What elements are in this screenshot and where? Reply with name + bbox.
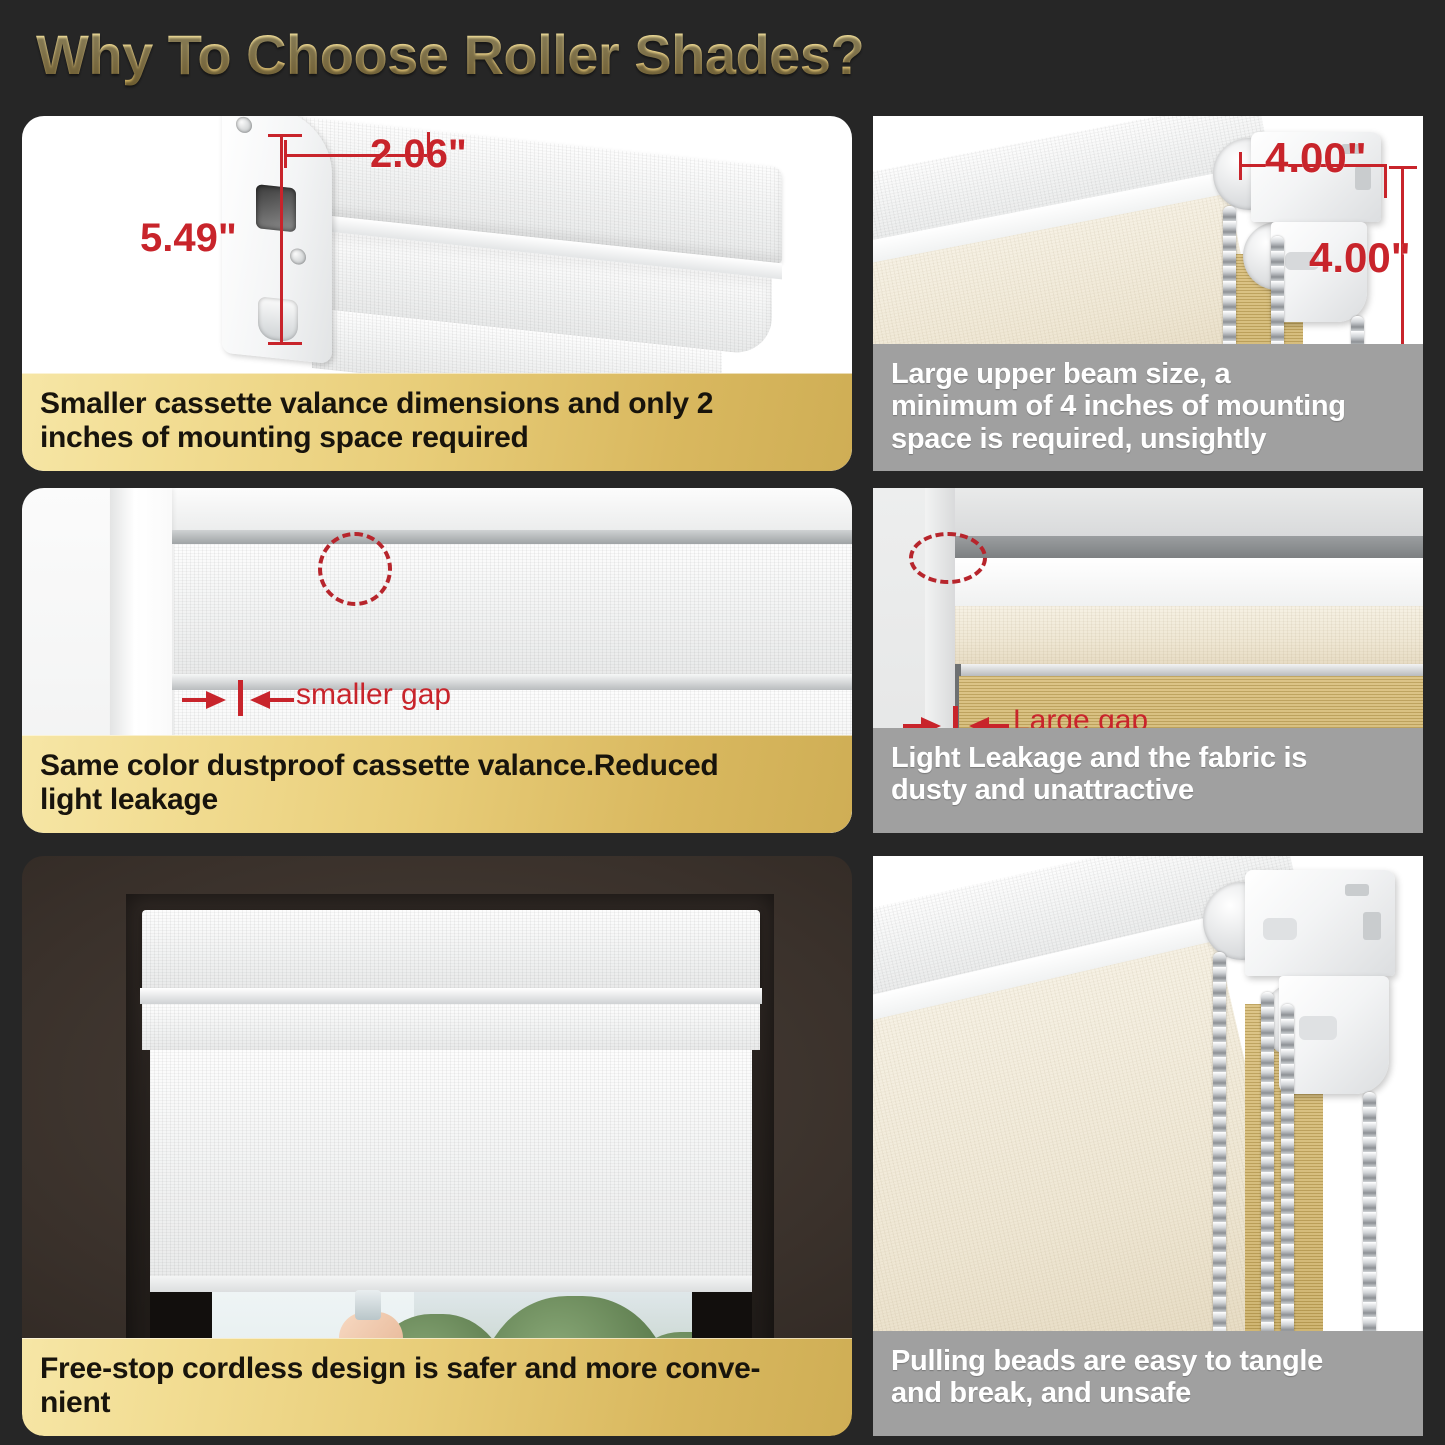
bracket-cutout bbox=[1263, 918, 1297, 940]
panel-middle-right[interactable]: Large gap Light Leakage and the fabric i… bbox=[873, 488, 1423, 833]
panel-bottom-right-caption: Pulling beads are easy to tangle and bre… bbox=[873, 1331, 1423, 1436]
bracket-cutout bbox=[1299, 1016, 1337, 1040]
cassette-valance-head bbox=[142, 910, 760, 988]
page-title: Why To Choose Roller Shades? bbox=[36, 22, 864, 87]
shade-middle-rail bbox=[172, 674, 852, 690]
width-dimension-label: 2.06" bbox=[370, 132, 467, 177]
panel-top-right-caption: Large upper beam size, a minimum of 4 in… bbox=[873, 344, 1423, 471]
gap-arrow-left-icon bbox=[250, 691, 270, 709]
panel-top-left[interactable]: 2.06" 5.49" Smaller cassette valance dim… bbox=[22, 116, 852, 471]
bracket-screw bbox=[290, 248, 306, 266]
caption-line: minimum of 4 inches of mounting bbox=[891, 390, 1405, 422]
panel-bottom-right[interactable]: Pulling beads are easy to tangle and bre… bbox=[873, 856, 1423, 1436]
panel-top-right[interactable]: 4.00" 4.00" Large upper beam size, a min… bbox=[873, 116, 1423, 471]
bead-chain bbox=[1261, 992, 1274, 1352]
upper-beam bbox=[955, 536, 1423, 558]
page-header: Why To Choose Roller Shades? bbox=[0, 0, 1445, 108]
cassette-valance-illustration bbox=[222, 116, 782, 397]
cassette-valance-rail bbox=[140, 988, 762, 1004]
panel-middle-right-caption: Light Leakage and the fabric is dusty an… bbox=[873, 728, 1423, 833]
shade-fabric bbox=[150, 1050, 752, 1284]
panel-bottom-left-caption: Free-stop cordless design is safer and m… bbox=[22, 1338, 852, 1436]
window-frame-top bbox=[110, 488, 852, 530]
shade-bottom-hem bbox=[150, 1276, 752, 1292]
highlight-circle-icon bbox=[909, 532, 987, 584]
panel-top-left-caption: Smaller cassette valance dimensions and … bbox=[22, 373, 852, 471]
panel-bottom-left-image: Free-stop cordless design is safer and m… bbox=[22, 856, 852, 1436]
cassette-valance-lower bbox=[142, 1004, 760, 1050]
bracket-notch bbox=[1363, 912, 1381, 940]
height-dimension-label: 5.49" bbox=[140, 216, 237, 261]
width-dim-tick-right bbox=[1384, 164, 1387, 198]
bracket-screw bbox=[236, 116, 252, 134]
bracket-knob bbox=[258, 296, 298, 342]
mounting-bracket-upper bbox=[1245, 870, 1395, 976]
gap-label: smaller gap bbox=[296, 678, 451, 712]
highlight-circle-icon bbox=[318, 532, 392, 606]
gap-arrow-stem bbox=[270, 698, 294, 702]
caption-line: light leakage bbox=[40, 783, 834, 817]
shade-cream-band bbox=[955, 606, 1423, 664]
caption-line: Same color dustproof cassette valance.Re… bbox=[40, 749, 834, 783]
panel-bottom-right-image: Pulling beads are easy to tangle and bre… bbox=[873, 856, 1423, 1436]
panel-middle-left-image: smaller gap Same color dustproof cassett… bbox=[22, 488, 852, 833]
bracket-slot bbox=[256, 184, 296, 232]
comparison-grid: 2.06" 5.49" Smaller cassette valance dim… bbox=[0, 108, 1445, 1445]
gap-marker bbox=[238, 680, 243, 716]
caption-line: Free-stop cordless design is safer and m… bbox=[40, 1352, 834, 1386]
wall-upper bbox=[955, 488, 1423, 536]
panel-top-left-image: 2.06" 5.49" Smaller cassette valance dim… bbox=[22, 116, 852, 471]
gap-arrow-right-icon bbox=[206, 691, 226, 709]
panel-middle-left-caption: Same color dustproof cassette valance.Re… bbox=[22, 735, 852, 833]
shade-fabric-upper bbox=[174, 544, 852, 674]
caption-line: inches of mounting space required bbox=[40, 421, 834, 455]
shade-white-band bbox=[955, 558, 1423, 606]
bead-chain bbox=[1281, 1004, 1294, 1352]
height-dim-tick-top bbox=[268, 134, 302, 137]
height-dim-rule bbox=[280, 134, 283, 344]
caption-line: Light Leakage and the fabric is bbox=[891, 742, 1405, 774]
panel-middle-right-image: Large gap Light Leakage and the fabric i… bbox=[873, 488, 1423, 833]
bracket-notch bbox=[1345, 884, 1369, 896]
gap-arrow-stem bbox=[182, 698, 208, 702]
caption-line: and break, and unsafe bbox=[891, 1377, 1405, 1409]
height-dim-tick-bottom bbox=[268, 342, 302, 345]
width-dimension-label: 4.00" bbox=[1265, 134, 1367, 182]
caption-line: dusty and unattractive bbox=[891, 774, 1405, 806]
bead-chain bbox=[1213, 952, 1226, 1352]
height-dimension-label: 4.00" bbox=[1309, 234, 1411, 282]
caption-line: Pulling beads are easy to tangle bbox=[891, 1345, 1405, 1377]
shade-pull-tab bbox=[355, 1290, 381, 1320]
caption-line: nient bbox=[40, 1386, 834, 1420]
width-dim-tick-left bbox=[1239, 152, 1242, 180]
bead-chain bbox=[1363, 1092, 1376, 1352]
panel-bottom-left[interactable]: Free-stop cordless design is safer and m… bbox=[22, 856, 852, 1436]
width-dim-tick-left bbox=[284, 140, 287, 168]
mounting-bracket-lower bbox=[1279, 976, 1389, 1094]
panel-top-right-image: 4.00" 4.00" Large upper beam size, a min… bbox=[873, 116, 1423, 471]
panel-middle-left[interactable]: smaller gap Same color dustproof cassett… bbox=[22, 488, 852, 833]
cassette-head-rail bbox=[172, 530, 852, 544]
caption-line: space is required, unsightly bbox=[891, 423, 1405, 455]
caption-line: Large upper beam size, a bbox=[891, 358, 1405, 390]
shade-bottom-lip bbox=[955, 664, 1423, 676]
caption-line: Smaller cassette valance dimensions and … bbox=[40, 387, 834, 421]
height-dim-tick-top bbox=[1389, 166, 1417, 169]
